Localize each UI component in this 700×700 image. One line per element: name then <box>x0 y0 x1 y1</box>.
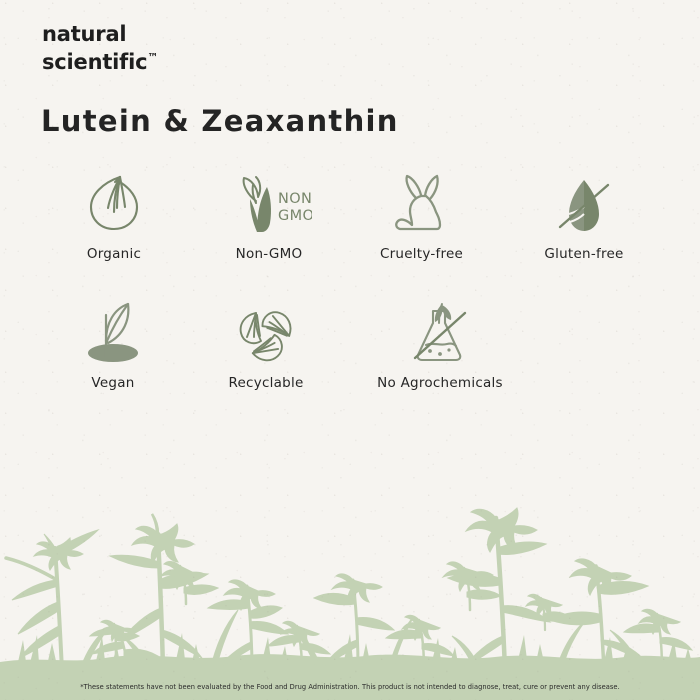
brand-line-1: natural <box>42 22 158 46</box>
brand-line-2-text: scientific <box>42 50 147 74</box>
non-gmo-mark-line-2: GMO <box>278 208 312 224</box>
certification-badge-grid: Organic NON <box>34 172 674 391</box>
leaf-droplet-icon <box>86 172 142 238</box>
badge-label: Cruelty-free <box>380 246 463 262</box>
badge-label: No Agrochemicals <box>377 375 503 391</box>
recycle-leaves-icon <box>235 301 297 367</box>
brand-logo: natural scientific™ <box>42 22 158 74</box>
non-gmo-mark-line-1: NON <box>278 191 312 207</box>
corn-plant-icon: NON GMO <box>226 172 312 238</box>
badge-organic: Organic <box>34 172 194 262</box>
badge-vegan: Vegan <box>34 301 192 391</box>
sprout-in-soil-icon <box>84 301 142 367</box>
badge-row-2: Vegan <box>34 301 674 391</box>
badge-row-1: Organic NON <box>34 172 674 262</box>
wheat-grain-crossed-icon <box>553 172 615 238</box>
flask-plant-crossed-icon <box>407 301 473 367</box>
rabbit-icon <box>392 172 452 238</box>
badge-gluten-free: Gluten-free <box>499 172 669 262</box>
badge-label: Non-GMO <box>236 246 303 262</box>
badge-no-agrochemicals: No Agrochemicals <box>340 301 540 391</box>
badge-label: Organic <box>87 246 141 262</box>
page-title: Lutein & Zeaxanthin <box>41 104 399 138</box>
product-label-panel: natural scientific™ Lutein & Zeaxanthin <box>0 0 700 700</box>
meadow-silhouette <box>0 430 700 700</box>
badge-label: Recyclable <box>228 375 303 391</box>
fda-disclaimer: *These statements have not been evaluate… <box>0 682 700 691</box>
badge-label: Gluten-free <box>544 246 623 262</box>
brand-line-2: scientific™ <box>42 46 158 74</box>
trademark-symbol: ™ <box>147 51 158 64</box>
badge-recyclable: Recyclable <box>192 301 340 391</box>
badge-non-gmo: NON GMO Non-GMO <box>194 172 344 262</box>
badge-cruelty-free: Cruelty-free <box>344 172 499 262</box>
badge-label: Vegan <box>91 375 134 391</box>
